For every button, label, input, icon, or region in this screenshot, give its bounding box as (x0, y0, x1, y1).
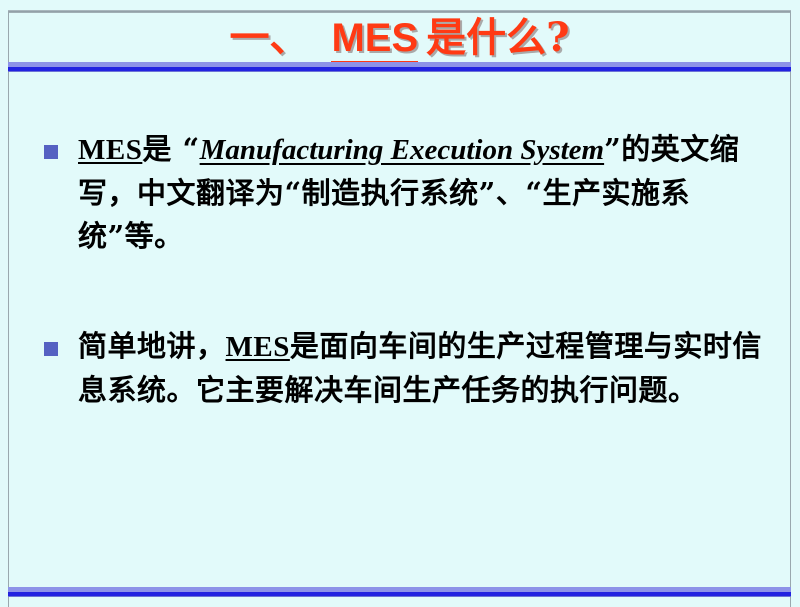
slide-body: MES是 “Manufacturing Execution System”的英文… (9, 73, 790, 587)
bullet-2-keyword-mes: MES (226, 331, 290, 363)
title-keyword-mes: MES (331, 16, 418, 64)
slide-canvas: 一、MES是什么? MES是 “Manufacturing Execution … (0, 0, 800, 607)
square-bullet-icon (44, 342, 58, 356)
bullet-1-english-term: Manufacturing Execution System (200, 134, 604, 166)
bottom-divider (8, 587, 791, 597)
bullet-1-text: MES是 “Manufacturing Execution System”的英文… (78, 128, 764, 258)
bullet-2-text: 简单地讲，MES是面向车间的生产过程管理与实时信息系统。它主要解决车间生产任务的… (78, 325, 764, 412)
bullet-1-keyword-mes: MES (78, 134, 142, 166)
divider-band-hairline (8, 71, 791, 72)
slide-title-text: 一、MES是什么? (229, 18, 569, 58)
bullet-1-seg-shi: 是 (142, 132, 182, 166)
slide-title: 一、MES是什么? (9, 14, 790, 62)
title-prefix: 一、 (229, 14, 309, 61)
right-frame-border (790, 11, 791, 607)
list-item: MES是 “Manufacturing Execution System”的英文… (44, 128, 764, 258)
bullet-1-close-quote: ” (604, 132, 621, 166)
title-suffix: 是什么? (426, 14, 569, 61)
divider-band-hairline (8, 596, 791, 597)
list-item: 简单地讲，MES是面向车间的生产过程管理与实时信息系统。它主要解决车间生产任务的… (44, 325, 764, 412)
bullet-2-lead: 简单地讲， (78, 329, 226, 363)
bullet-1-open-quote: “ (182, 132, 199, 166)
title-underline-divider (8, 62, 791, 72)
top-gray-divider (8, 10, 791, 13)
square-bullet-icon (44, 145, 58, 159)
